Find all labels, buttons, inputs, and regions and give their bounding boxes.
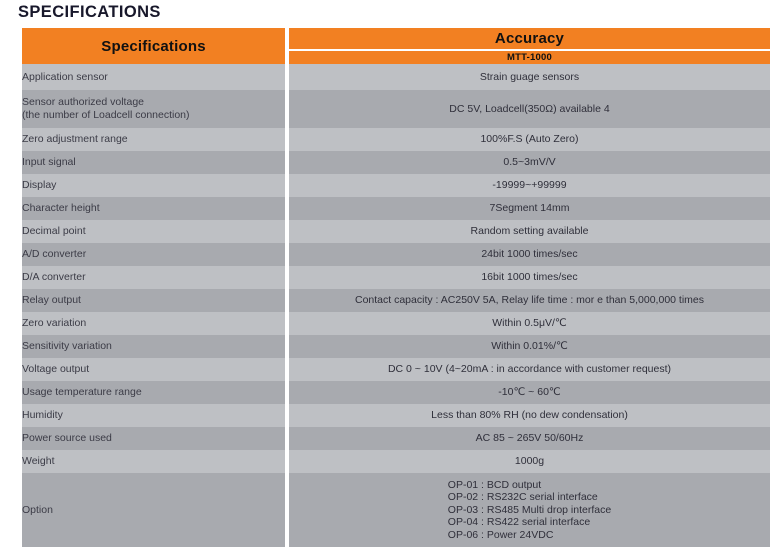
row-label: Input signal <box>22 151 285 174</box>
row-value: Contact capacity : AC250V 5A, Relay life… <box>289 289 770 312</box>
table-row: Power source used AC 85 ~ 265V 50/60Hz <box>22 427 770 450</box>
table-row: Voltage output DC 0 ~ 10V (4~20mA : in a… <box>22 358 770 381</box>
option-item: OP-06 : Power 24VDC <box>448 529 611 542</box>
row-label: D/A converter <box>22 266 285 289</box>
row-label: Humidity <box>22 404 285 427</box>
option-item: OP-02 : RS232C serial interface <box>448 491 611 504</box>
table-row: Character height 7Segment 14mm <box>22 197 770 220</box>
row-value: 16bit 1000 times/sec <box>289 266 770 289</box>
table-row: Zero variation Within 0.5μV/℃ <box>22 312 770 335</box>
table-row: Zero adjustment range 100%F.S (Auto Zero… <box>22 128 770 151</box>
table-row: Input signal 0.5~3mV/V <box>22 151 770 174</box>
option-item: OP-04 : RS422 serial interface <box>448 516 611 529</box>
row-label: Character height <box>22 197 285 220</box>
table-row: Application sensor Strain guage sensors <box>22 64 770 90</box>
table-row: Humidity Less than 80% RH (no dew conden… <box>22 404 770 427</box>
row-label: Decimal point <box>22 220 285 243</box>
option-list: OP-01 : BCD output OP-02 : RS232C serial… <box>448 479 611 542</box>
table-row: Weight 1000g <box>22 450 770 473</box>
row-value: DC 0 ~ 10V (4~20mA : in accordance with … <box>289 358 770 381</box>
row-label: Voltage output <box>22 358 285 381</box>
row-value: Strain guage sensors <box>289 64 770 90</box>
table-row: Decimal point Random setting available <box>22 220 770 243</box>
row-value: -19999~+99999 <box>289 174 770 197</box>
row-label: Zero variation <box>22 312 285 335</box>
row-label-line1: Sensor authorized voltage <box>22 96 144 108</box>
table-row-option: Option OP-01 : BCD output OP-02 : RS232C… <box>22 473 770 547</box>
row-value: 1000g <box>289 450 770 473</box>
row-value: 100%F.S (Auto Zero) <box>289 128 770 151</box>
row-value: 24bit 1000 times/sec <box>289 243 770 266</box>
row-label: Usage temperature range <box>22 381 285 404</box>
table-row: Display -19999~+99999 <box>22 174 770 197</box>
table-row: Usage temperature range -10℃ ~ 60℃ <box>22 381 770 404</box>
row-value: AC 85 ~ 265V 50/60Hz <box>289 427 770 450</box>
row-label: Display <box>22 174 285 197</box>
row-value: -10℃ ~ 60℃ <box>289 381 770 404</box>
row-label: Relay output <box>22 289 285 312</box>
row-value: DC 5V, Loadcell(350Ω) available 4 <box>289 90 770 128</box>
option-item: OP-01 : BCD output <box>448 479 611 492</box>
row-label: Sensor authorized voltage (the number of… <box>22 90 285 128</box>
option-item: OP-03 : RS485 Multi drop interface <box>448 504 611 517</box>
row-label: Option <box>22 473 285 547</box>
table-row: D/A converter 16bit 1000 times/sec <box>22 266 770 289</box>
table-row: Sensor authorized voltage (the number of… <box>22 90 770 128</box>
row-label: A/D converter <box>22 243 285 266</box>
page-title: SPECIFICATIONS <box>18 2 161 22</box>
header-specifications: Specifications <box>22 28 285 64</box>
row-label: Power source used <box>22 427 285 450</box>
row-label: Sensitivity variation <box>22 335 285 358</box>
specifications-page: SPECIFICATIONS Specifications Accuracy M… <box>0 0 781 543</box>
row-label: Weight <box>22 450 285 473</box>
table-row: Relay output Contact capacity : AC250V 5… <box>22 289 770 312</box>
header-accuracy-model: MTT-1000 <box>289 51 770 64</box>
row-value: Random setting available <box>289 220 770 243</box>
row-value: Less than 80% RH (no dew condensation) <box>289 404 770 427</box>
row-label: Application sensor <box>22 64 285 90</box>
row-label-line2: (the number of Loadcell connection) <box>22 109 190 121</box>
row-value-options: OP-01 : BCD output OP-02 : RS232C serial… <box>289 473 770 547</box>
row-value: Within 0.5μV/℃ <box>289 312 770 335</box>
header-accuracy: Accuracy <box>289 28 770 49</box>
table-row: A/D converter 24bit 1000 times/sec <box>22 243 770 266</box>
row-label: Zero adjustment range <box>22 128 285 151</box>
specifications-table: Specifications Accuracy MTT-1000 Applica… <box>22 28 770 547</box>
table-row: Sensitivity variation Within 0.01%/℃ <box>22 335 770 358</box>
row-value: 0.5~3mV/V <box>289 151 770 174</box>
table-header-row: Specifications Accuracy <box>22 28 770 49</box>
row-value: Within 0.01%/℃ <box>289 335 770 358</box>
row-value: 7Segment 14mm <box>289 197 770 220</box>
